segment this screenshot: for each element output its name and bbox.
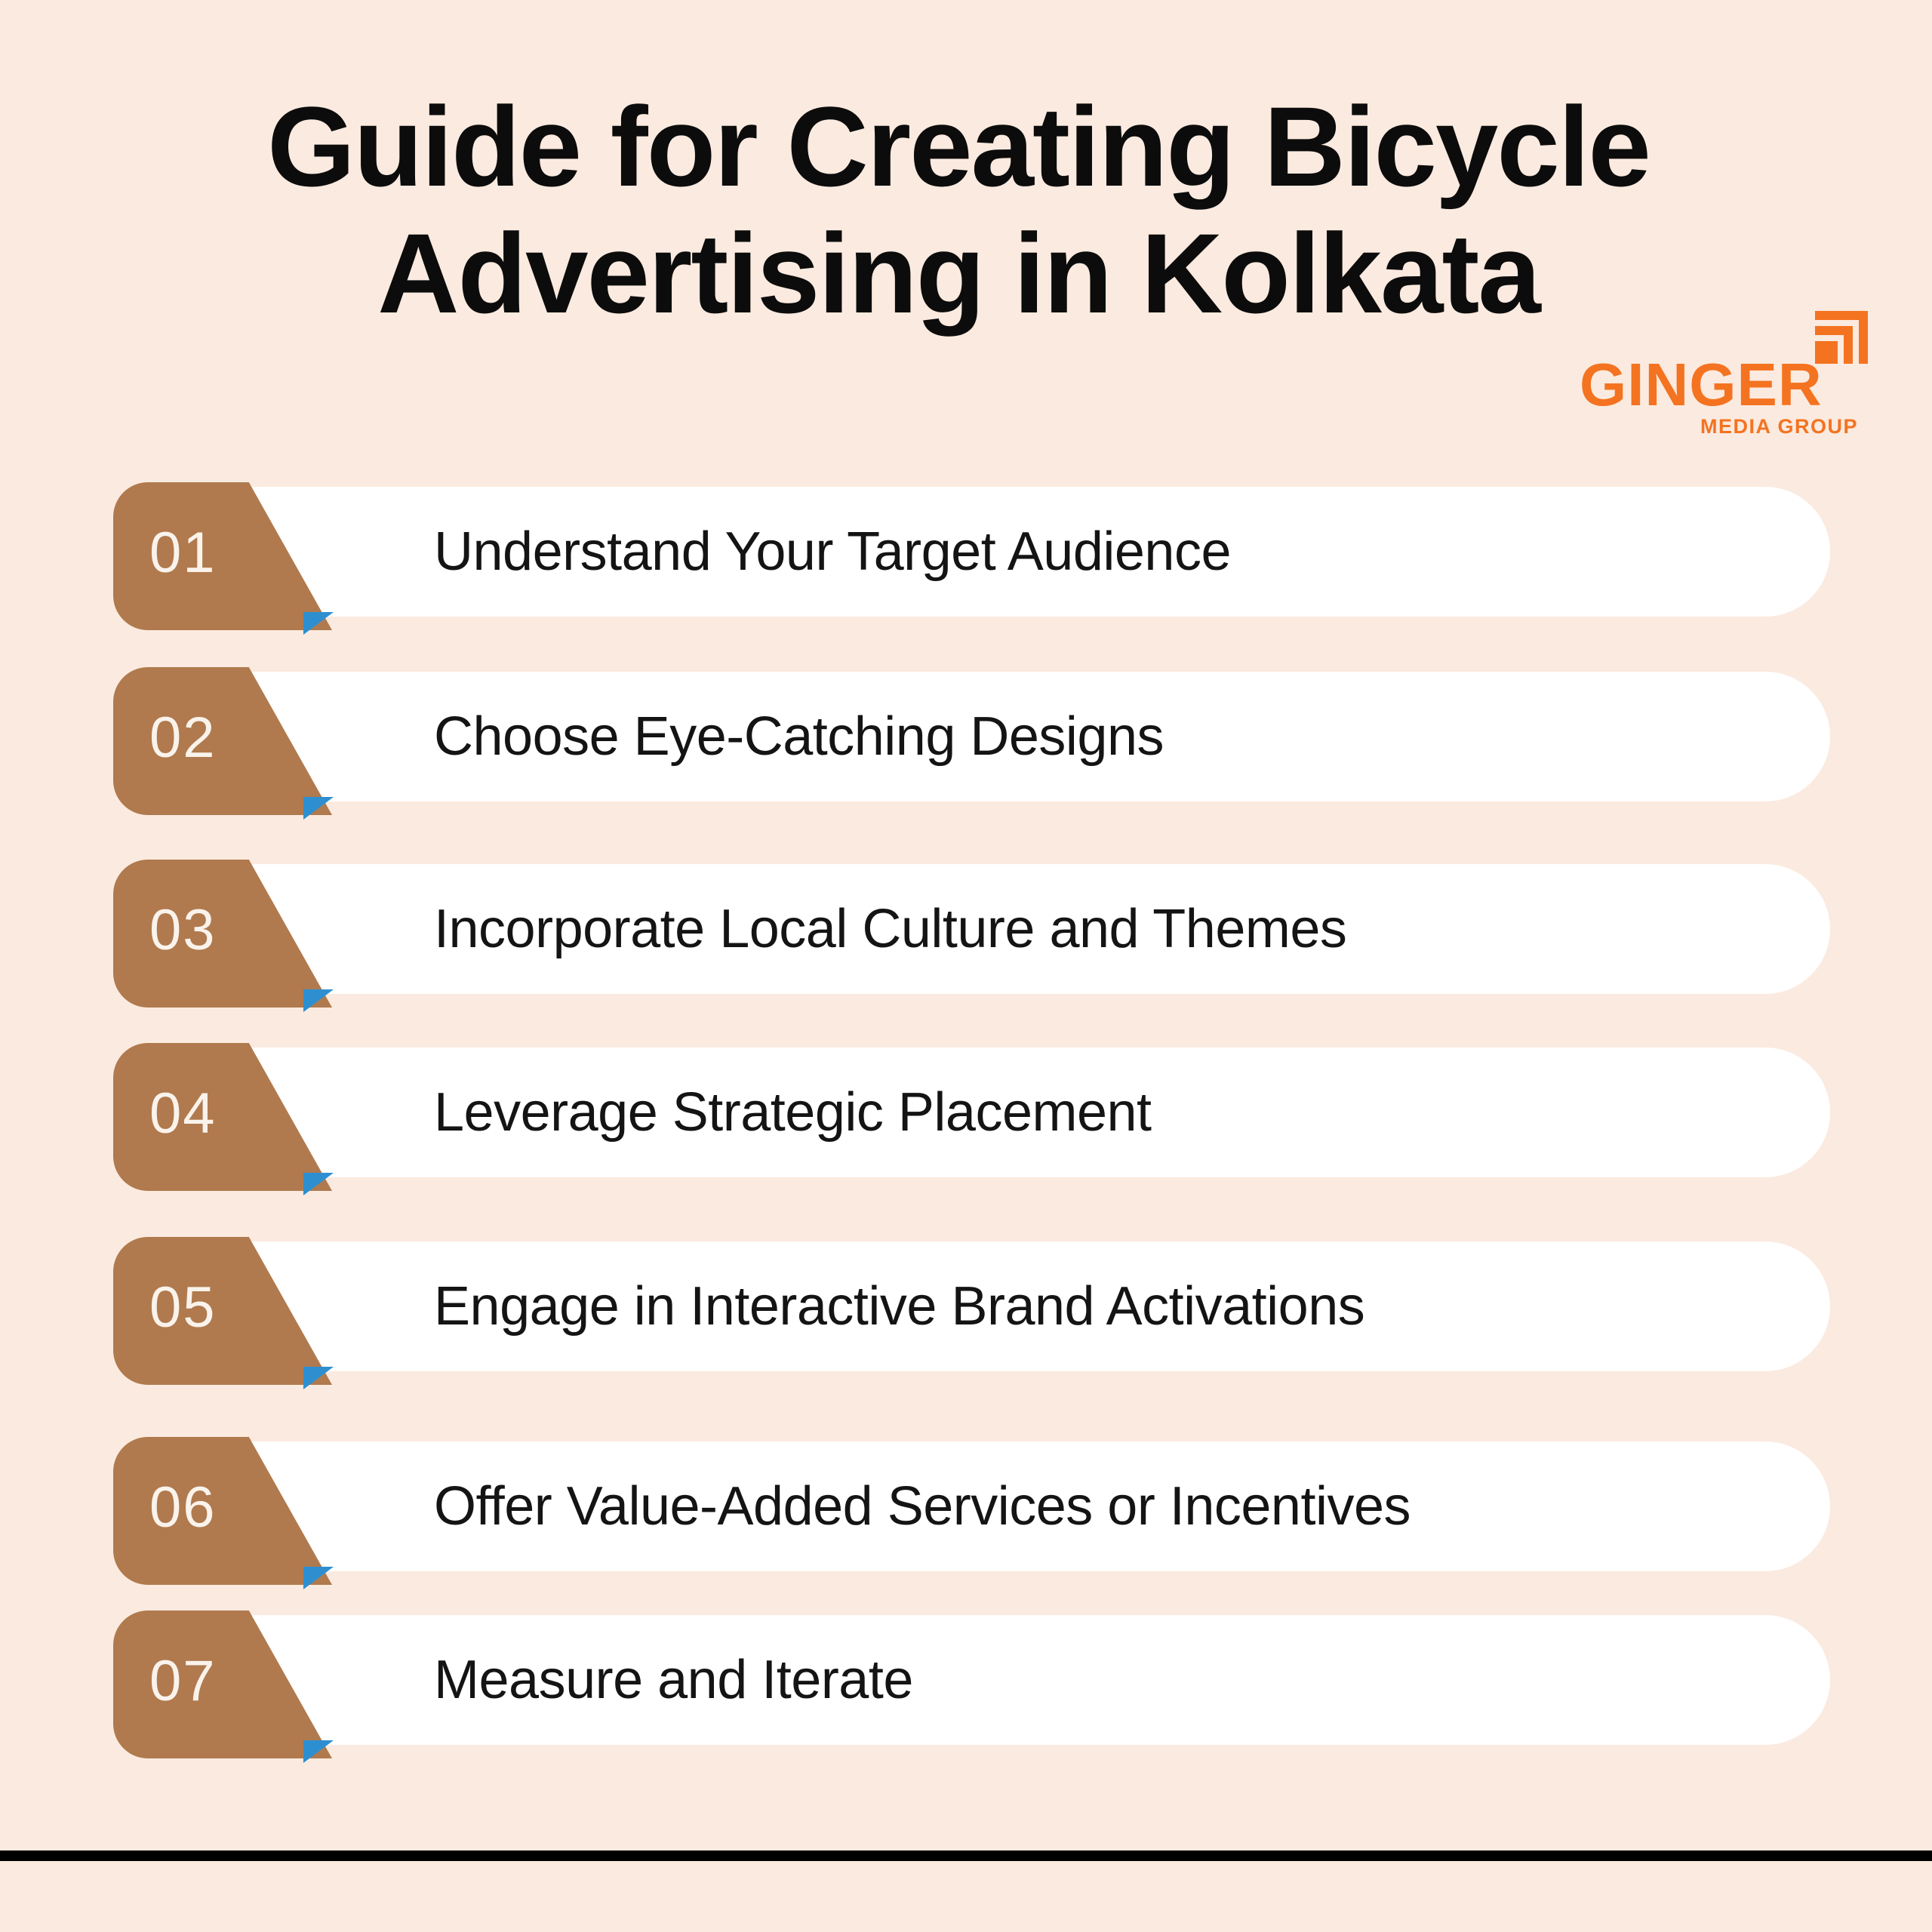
page-title-line-1: Guide for Creating Bicycle [166, 83, 1751, 210]
list-item-label: Incorporate Local Culture and Themes [434, 864, 1346, 994]
list-item-label: Measure and Iterate [434, 1615, 913, 1745]
badge-accent-triangle-icon [303, 1367, 334, 1389]
list-item-number: 02 [149, 709, 217, 767]
list-item-label: Leverage Strategic Placement [434, 1048, 1152, 1177]
list-item-number: 07 [149, 1653, 217, 1710]
list-item-number: 05 [149, 1279, 217, 1337]
list-item[interactable]: 01 Understand Your Target Audience [113, 487, 1830, 617]
list-item-number: 01 [149, 525, 217, 582]
list-item[interactable]: 05 Engage in Interactive Brand Activatio… [113, 1241, 1830, 1371]
header: Guide for Creating Bicycle Advertising i… [0, 0, 1932, 453]
list-item-label: Understand Your Target Audience [434, 487, 1231, 617]
list-item[interactable]: 07 Measure and Iterate [113, 1615, 1830, 1745]
list-item-label: Engage in Interactive Brand Activations [434, 1241, 1364, 1371]
list-item-label: Offer Value-Added Services or Incentives [434, 1441, 1411, 1571]
brand-logo: GINGER MEDIA GROUP [1574, 308, 1875, 421]
badge-accent-triangle-icon [303, 1567, 334, 1589]
list-item-label: Choose Eye-Catching Designs [434, 672, 1164, 801]
list-item-number: 03 [149, 902, 217, 959]
badge-accent-triangle-icon [303, 797, 334, 820]
list-item-number: 04 [149, 1085, 217, 1143]
page-title: Guide for Creating Bicycle Advertising i… [166, 83, 1751, 337]
bottom-divider [0, 1850, 1932, 1861]
page-title-line-2: Advertising in Kolkata [166, 210, 1751, 337]
list-item[interactable]: 02 Choose Eye-Catching Designs [113, 672, 1830, 801]
logo-tagline: MEDIA GROUP [1700, 415, 1858, 438]
list-item[interactable]: 04 Leverage Strategic Placement [113, 1048, 1830, 1177]
list-item[interactable]: 06 Offer Value-Added Services or Incenti… [113, 1441, 1830, 1571]
list-item[interactable]: 03 Incorporate Local Culture and Themes [113, 864, 1830, 994]
badge-accent-triangle-icon [303, 1173, 334, 1195]
badge-accent-triangle-icon [303, 989, 334, 1012]
list-item-number: 06 [149, 1479, 217, 1537]
logo-wordmark: GINGER [1580, 355, 1823, 415]
badge-accent-triangle-icon [303, 1740, 334, 1763]
badge-accent-triangle-icon [303, 612, 334, 635]
